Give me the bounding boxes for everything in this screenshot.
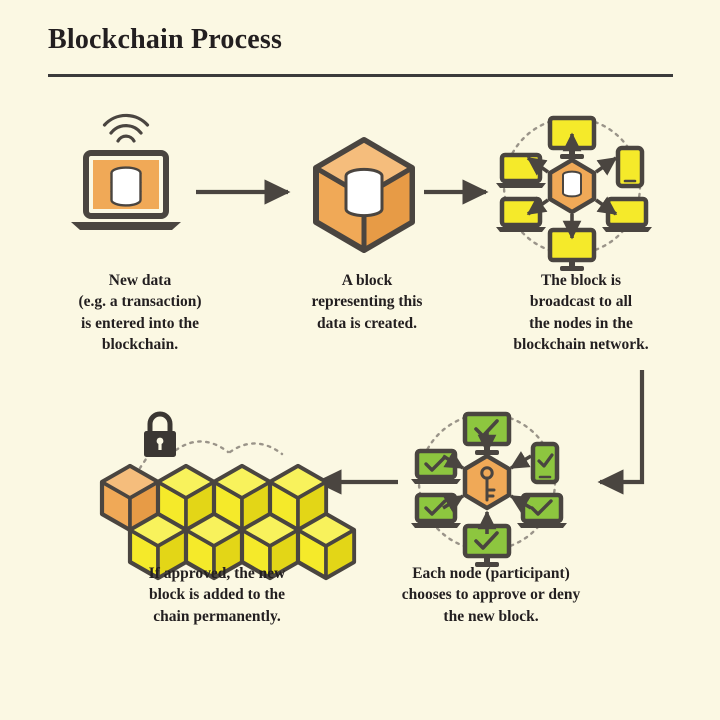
broadcast-network-icon <box>496 118 652 271</box>
database-icon <box>112 168 141 206</box>
arrow-3-to-4 <box>600 370 642 482</box>
database-icon <box>563 172 581 197</box>
laptop-with-database-icon <box>71 115 181 230</box>
infographic-canvas: Blockchain Process <box>0 0 720 720</box>
center-block-hexagon <box>550 160 594 212</box>
approval-laptop-right-lower <box>517 495 567 528</box>
node-laptop-left-lower <box>496 199 546 232</box>
step-1-caption: New data (e.g. a transaction) is entered… <box>20 270 260 356</box>
node-approval-network-icon <box>411 414 567 567</box>
node-laptop-right-lower <box>602 199 652 232</box>
node-laptop-left-upper <box>496 155 546 188</box>
database-icon <box>346 169 382 215</box>
approval-laptop-left-upper <box>411 451 461 484</box>
node-phone-right-upper <box>618 148 642 186</box>
blockchain-honeycomb-icon <box>102 414 354 578</box>
approval-phone-right-upper <box>533 444 557 482</box>
step-4-caption: Each node (participant) chooses to appro… <box>362 563 620 627</box>
step-5-caption: If approved, the new block is added to t… <box>98 563 336 627</box>
step-2-caption: A block representing this data is create… <box>272 270 462 334</box>
center-key-hexagon <box>465 456 509 508</box>
padlock-icon <box>144 414 176 457</box>
block-cube-with-database-icon <box>316 140 412 250</box>
wifi-icon <box>105 115 148 141</box>
step-3-caption: The block is broadcast to all the nodes … <box>466 270 696 356</box>
